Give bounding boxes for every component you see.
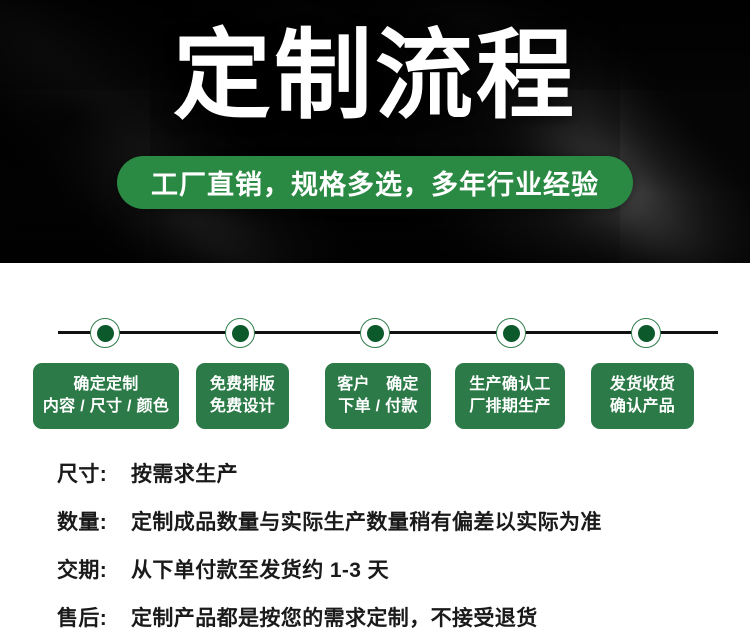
spec-value: 按需求生产	[131, 458, 238, 488]
process-step-2: 免费排版 免费设计	[196, 363, 289, 429]
spec-label: 交期:	[57, 554, 123, 584]
header-banner: 定制流程 工厂直销，规格多选，多年行业经验	[0, 0, 750, 263]
spec-label: 售后:	[57, 602, 123, 628]
process-step-5: 发货收货 确认产品	[591, 363, 694, 429]
step-label-line2: 下单 / 付款	[338, 396, 417, 418]
spec-value: 从下单付款至发货约 1-3 天	[131, 554, 389, 584]
process-step-list: 确定定制 内容 / 尺寸 / 颜色 免费排版 免费设计 客户 确定 下单 / 付…	[0, 363, 750, 443]
step-label-line2: 内容 / 尺寸 / 颜色	[43, 396, 169, 418]
step-label-line2: 免费设计	[210, 396, 275, 418]
process-step-1: 确定定制 内容 / 尺寸 / 颜色	[33, 363, 179, 429]
spec-label: 数量:	[57, 506, 123, 536]
process-body: 确定定制 内容 / 尺寸 / 颜色 免费排版 免费设计 客户 确定 下单 / 付…	[0, 263, 750, 628]
header-tagline-pill: 工厂直销，规格多选，多年行业经验	[117, 156, 633, 209]
spec-row-lead-time: 交期: 从下单付款至发货约 1-3 天	[57, 554, 717, 584]
page-title: 定制流程	[0, 26, 750, 124]
spec-row-quantity: 数量: 定制成品数量与实际生产数量稍有偏差以实际为准	[57, 506, 717, 536]
step-label-line1: 免费排版	[210, 374, 275, 396]
spec-row-after-sales: 售后: 定制产品都是按您的需求定制，不接受退货	[57, 602, 717, 628]
timeline-node-1	[90, 318, 120, 348]
timeline-node-dot-icon	[97, 325, 114, 342]
step-label-line1: 确定定制	[73, 374, 138, 396]
timeline-node-5	[631, 318, 661, 348]
process-step-4: 生产确认工 厂排期生产	[455, 363, 565, 429]
spec-value: 定制成品数量与实际生产数量稍有偏差以实际为准	[131, 506, 602, 536]
timeline-node-dot-icon	[638, 325, 655, 342]
timeline-node-dot-icon	[503, 325, 520, 342]
step-label-line1: 生产确认工	[469, 374, 551, 396]
timeline-node-dot-icon	[367, 325, 384, 342]
process-step-3: 客户 确定 下单 / 付款	[325, 363, 431, 429]
spec-row-size: 尺寸: 按需求生产	[57, 458, 717, 488]
spec-value: 定制产品都是按您的需求定制，不接受退货	[131, 602, 538, 628]
step-label-line2: 确认产品	[610, 396, 675, 418]
spec-label: 尺寸:	[57, 458, 123, 488]
timeline-node-3	[360, 318, 390, 348]
step-label-line1: 发货收货	[610, 374, 675, 396]
spec-list: 尺寸: 按需求生产 数量: 定制成品数量与实际生产数量稍有偏差以实际为准 交期:…	[57, 458, 717, 628]
step-label-line1: 客户 确定	[337, 374, 419, 396]
custom-process-infographic: 定制流程 工厂直销，规格多选，多年行业经验 确定定制	[0, 0, 750, 628]
timeline-node-dot-icon	[232, 325, 249, 342]
timeline-node-4	[496, 318, 526, 348]
timeline-node-2	[225, 318, 255, 348]
step-label-line2: 厂排期生产	[469, 396, 551, 418]
